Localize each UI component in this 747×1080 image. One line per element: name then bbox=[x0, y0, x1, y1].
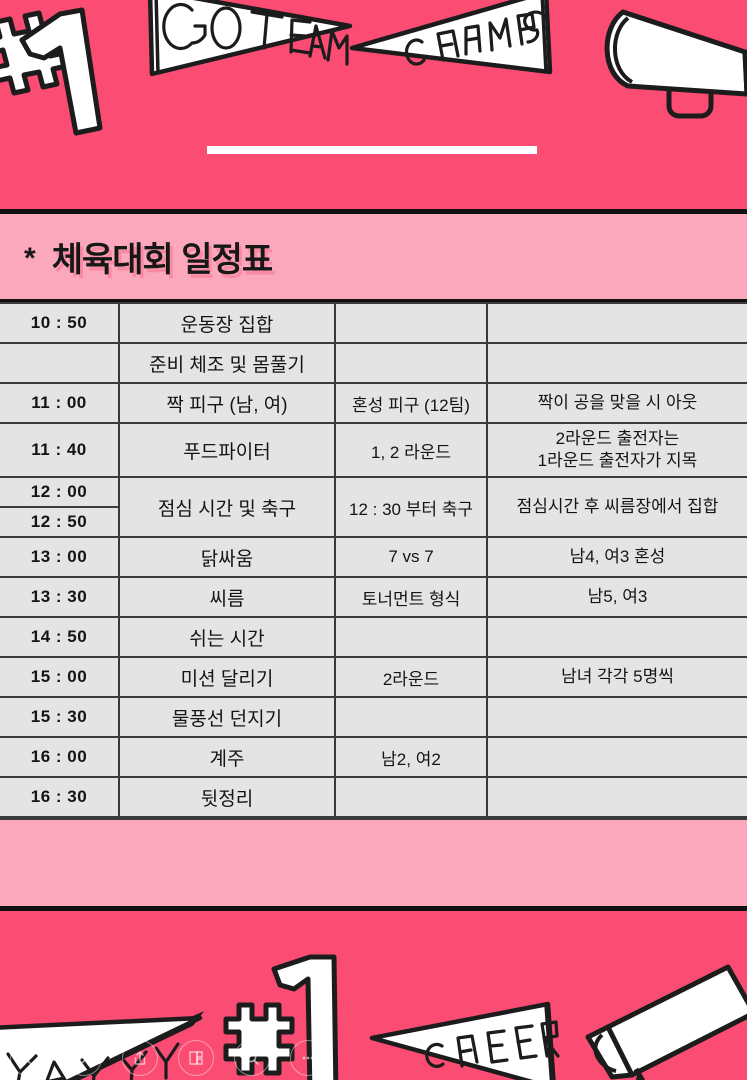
cell-note: 남5, 여3 bbox=[487, 577, 747, 617]
cell-note: 짝이 공을 맞을 시 아웃 bbox=[487, 383, 747, 423]
cell-detail: 2라운드 bbox=[335, 657, 487, 697]
pennant-champs bbox=[350, 0, 555, 85]
cell-detail: 혼성 피구 (12팀) bbox=[335, 383, 487, 423]
cell-detail bbox=[335, 343, 487, 383]
cell-detail bbox=[335, 303, 487, 343]
schedule-card: * 체육대회 일정표 10 : 50 운동장 집합 준비 체조 및 몸풀기 bbox=[0, 209, 747, 911]
note-line-1: 2라운드 출전자는 bbox=[494, 428, 741, 450]
chevron-right-icon bbox=[76, 1050, 92, 1066]
cell-detail: 1, 2 라운드 bbox=[335, 423, 487, 477]
schedule-title-band: * 체육대회 일정표 bbox=[0, 214, 747, 302]
cell-time: 11 : 40 bbox=[0, 423, 119, 477]
cell-time: 13 : 00 bbox=[0, 537, 119, 577]
cell-note: 2라운드 출전자는 1라운드 출전자가 지목 bbox=[487, 423, 747, 477]
cell-event: 닭싸움 bbox=[119, 537, 335, 577]
cell-time: 14 : 50 bbox=[0, 617, 119, 657]
search-icon bbox=[244, 1050, 260, 1066]
more-button[interactable] bbox=[290, 1040, 326, 1076]
chevron-left-icon bbox=[20, 1050, 36, 1066]
table-row: 11 : 40 푸드파이터 1, 2 라운드 2라운드 출전자는 1라운드 출전… bbox=[0, 423, 747, 477]
table-row: 14 : 50 쉬는 시간 bbox=[0, 617, 747, 657]
table-row: 11 : 00 짝 피구 (남, 여) 혼성 피구 (12팀) 짝이 공을 맞을… bbox=[0, 383, 747, 423]
megaphone-sticker-top bbox=[595, 0, 747, 129]
cell-time: 16 : 00 bbox=[0, 737, 119, 777]
cell-event: 계주 bbox=[119, 737, 335, 777]
note-line-2: 1라운드 출전자가 지목 bbox=[494, 450, 741, 472]
cell-time: 11 : 00 bbox=[0, 383, 119, 423]
pennant-go-team bbox=[144, 0, 362, 84]
cell-note: 남녀 각각 5명씩 bbox=[487, 657, 747, 697]
cell-note bbox=[487, 343, 747, 383]
poster-page: * 체육대회 일정표 10 : 50 운동장 집합 준비 체조 및 몸풀기 bbox=[0, 0, 747, 1080]
cell-note bbox=[487, 303, 747, 343]
tabs-button[interactable] bbox=[178, 1040, 214, 1076]
table-row: 15 : 30 물풍선 던지기 bbox=[0, 697, 747, 737]
table-row: 16 : 00 계주 남2, 여2 bbox=[0, 737, 747, 777]
cell-note bbox=[487, 737, 747, 777]
cell-time: 15 : 00 bbox=[0, 657, 119, 697]
cell-note-merged: 점심시간 후 씨름장에서 집합 bbox=[487, 477, 747, 537]
table-row-lunch-a: 12 : 00 점심 시간 및 축구 12 : 30 부터 축구 점심시간 후 … bbox=[0, 477, 747, 507]
cell-time: 15 : 30 bbox=[0, 697, 119, 737]
table-row: 10 : 50 운동장 집합 bbox=[0, 303, 747, 343]
table-row: 13 : 30 씨름 토너먼트 형식 남5, 여3 bbox=[0, 577, 747, 617]
detail-line-2: 축구 bbox=[442, 500, 473, 519]
cell-event: 씨름 bbox=[119, 577, 335, 617]
cell-detail bbox=[335, 777, 487, 817]
cell-detail-merged: 12 : 30 부터 축구 bbox=[335, 477, 487, 537]
cell-detail bbox=[335, 697, 487, 737]
share-icon bbox=[132, 1050, 148, 1066]
cell-time: 12 : 00 bbox=[0, 477, 119, 507]
cell-event: 준비 체조 및 몸풀기 bbox=[119, 343, 335, 383]
cell-event: 물풍선 던지기 bbox=[119, 697, 335, 737]
cell-note bbox=[487, 617, 747, 657]
schedule-table: 10 : 50 운동장 집합 준비 체조 및 몸풀기 11 : 00 짝 피구 … bbox=[0, 302, 747, 818]
table-row: 15 : 00 미션 달리기 2라운드 남녀 각각 5명씩 bbox=[0, 657, 747, 697]
cell-event: 미션 달리기 bbox=[119, 657, 335, 697]
schedule-footer-band bbox=[0, 818, 747, 906]
cell-time: 12 : 50 bbox=[0, 507, 119, 537]
cell-time bbox=[0, 343, 119, 383]
cell-detail: 남2, 여2 bbox=[335, 737, 487, 777]
number-one-sticker-top bbox=[0, 0, 112, 156]
cell-note: 남4, 여3 혼성 bbox=[487, 537, 747, 577]
detail-line-1: 12 : 30 부터 bbox=[349, 500, 437, 519]
cell-event-merged: 점심 시간 및 축구 bbox=[119, 477, 335, 537]
table-row: 16 : 30 뒷정리 bbox=[0, 777, 747, 817]
cell-note bbox=[487, 777, 747, 817]
forward-button[interactable] bbox=[66, 1040, 102, 1076]
cell-event: 운동장 집합 bbox=[119, 303, 335, 343]
header-divider bbox=[207, 146, 537, 154]
cell-time: 16 : 30 bbox=[0, 777, 119, 817]
cell-event: 짝 피구 (남, 여) bbox=[119, 383, 335, 423]
cell-detail bbox=[335, 617, 487, 657]
browser-navbar[interactable] bbox=[0, 1036, 747, 1080]
cell-detail: 7 vs 7 bbox=[335, 537, 487, 577]
cell-time: 13 : 30 bbox=[0, 577, 119, 617]
share-button[interactable] bbox=[122, 1040, 158, 1076]
table-row: 준비 체조 및 몸풀기 bbox=[0, 343, 747, 383]
ellipsis-icon bbox=[300, 1050, 316, 1066]
cell-event: 뒷정리 bbox=[119, 777, 335, 817]
cell-event: 푸드파이터 bbox=[119, 423, 335, 477]
search-button[interactable] bbox=[234, 1040, 270, 1076]
cell-detail: 토너먼트 형식 bbox=[335, 577, 487, 617]
tabs-icon bbox=[188, 1050, 204, 1066]
cell-time: 10 : 50 bbox=[0, 303, 119, 343]
table-row: 13 : 00 닭싸움 7 vs 7 남4, 여3 혼성 bbox=[0, 537, 747, 577]
cell-event: 쉬는 시간 bbox=[119, 617, 335, 657]
title-star-icon: * bbox=[24, 244, 36, 274]
cell-note bbox=[487, 697, 747, 737]
back-button[interactable] bbox=[10, 1040, 46, 1076]
page-title: 체육대회 일정표 bbox=[52, 232, 272, 281]
